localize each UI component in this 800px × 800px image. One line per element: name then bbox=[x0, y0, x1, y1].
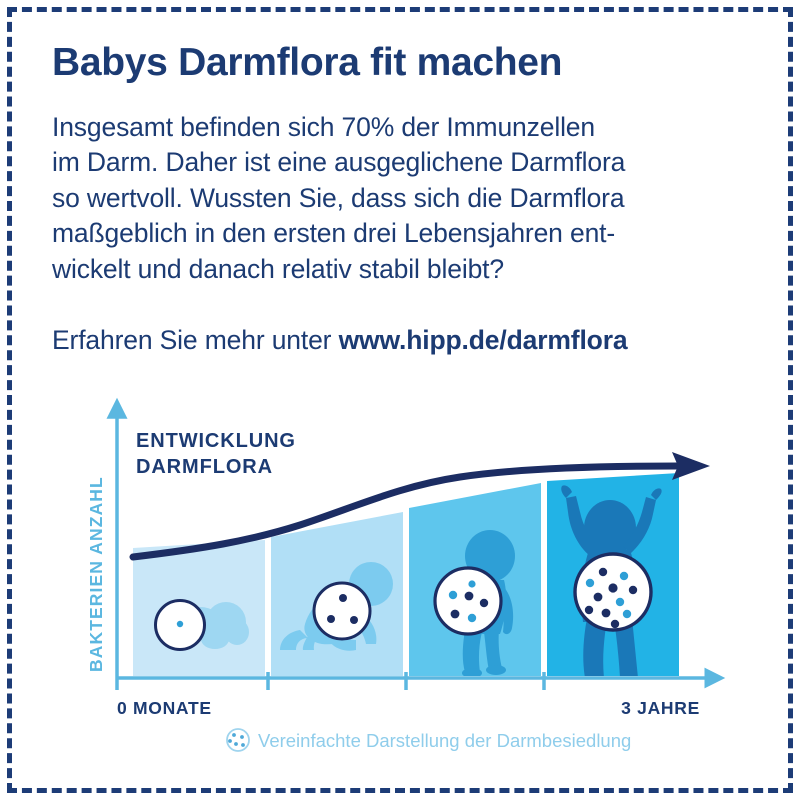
gut-flora-circle-1 bbox=[156, 601, 205, 650]
bacteria-dot bbox=[327, 615, 335, 623]
card-content: Babys Darmflora fit machen Insgesamt bef… bbox=[0, 0, 800, 800]
body-line-4: maßgeblich in den ersten drei Lebensjahr… bbox=[52, 216, 758, 251]
chart-legend: Vereinfachte Darstellung der Darmbesiedl… bbox=[227, 729, 631, 751]
bacteria-dot bbox=[480, 599, 488, 607]
website-link[interactable]: www.hipp.de/darmflora bbox=[339, 325, 628, 355]
bacteria-dot bbox=[339, 594, 347, 602]
cta-prefix: Erfahren Sie mehr unter bbox=[52, 325, 339, 355]
cta-line: Erfahren Sie mehr unter www.hipp.de/darm… bbox=[52, 325, 762, 356]
bar-segment-three-years[interactable] bbox=[547, 473, 679, 678]
bacteria-dot bbox=[629, 586, 637, 594]
chart-heading-line2: DARMFLORA bbox=[136, 456, 273, 478]
bacteria-dot bbox=[468, 614, 476, 622]
bacteria-dot bbox=[599, 568, 607, 576]
body-line-1: Insgesamt befinden sich 70% der Immunzel… bbox=[52, 110, 758, 145]
bacteria-dot bbox=[602, 609, 611, 618]
gut-flora-circle-2 bbox=[314, 583, 370, 639]
gut-flora-circle-icon bbox=[227, 729, 249, 751]
bacteria-dot bbox=[451, 610, 460, 619]
bacteria-dot bbox=[594, 593, 603, 602]
bacteria-dot bbox=[608, 583, 617, 592]
bacteria-dot bbox=[449, 591, 457, 599]
bar-segment-crawling[interactable] bbox=[271, 512, 403, 676]
y-axis: BAKTERIEN ANZAHL bbox=[86, 417, 117, 690]
bacteria-dot bbox=[611, 620, 619, 628]
chart-area: BAKTERIEN ANZAHL ENTWICKLUNG DARMFLORA bbox=[0, 392, 800, 800]
bacteria-dot bbox=[177, 621, 183, 627]
development-chart-svg: BAKTERIEN ANZAHL ENTWICKLUNG DARMFLORA bbox=[0, 392, 800, 800]
gut-flora-circle-4 bbox=[575, 554, 651, 630]
legend-label: Vereinfachte Darstellung der Darmbesiedl… bbox=[258, 730, 631, 751]
body-line-5: wickelt und danach relativ stabil bleibt… bbox=[52, 252, 758, 287]
flora-circle-outline-2 bbox=[314, 583, 370, 639]
x-tick-label-start: 0 MONATE bbox=[117, 698, 212, 718]
flora-circle-outline-3 bbox=[435, 568, 501, 634]
infographic-card: Babys Darmflora fit machen Insgesamt bef… bbox=[0, 0, 800, 800]
gut-flora-circle-3 bbox=[435, 568, 501, 634]
bacteria-dot bbox=[585, 606, 593, 614]
body-line-2: im Darm. Daher ist eine ausgeglichene Da… bbox=[52, 145, 758, 180]
bacteria-dot bbox=[586, 579, 594, 587]
bacteria-dot bbox=[620, 572, 628, 580]
bacteria-dot bbox=[465, 592, 474, 601]
chart-heading-line1: ENTWICKLUNG bbox=[136, 430, 296, 452]
bacteria-dot bbox=[468, 580, 475, 587]
bacteria-dot bbox=[350, 616, 358, 624]
bacteria-dot bbox=[623, 610, 631, 618]
page-title: Babys Darmflora fit machen bbox=[52, 42, 752, 84]
y-axis-label: BAKTERIEN ANZAHL bbox=[86, 476, 106, 672]
bar-segment-newborn[interactable] bbox=[133, 540, 265, 676]
x-tick-label-end: 3 JAHRE bbox=[621, 698, 700, 718]
body-paragraph: Insgesamt befinden sich 70% der Immunzel… bbox=[52, 110, 758, 287]
x-axis: 0 MONATE 3 JAHRE bbox=[117, 672, 706, 718]
body-line-3: so wertvoll. Wussten Sie, dass sich die … bbox=[52, 181, 758, 216]
bar-1-figure-group bbox=[156, 601, 250, 650]
bacteria-dot bbox=[616, 598, 624, 606]
bar-segment-toddler[interactable] bbox=[409, 483, 541, 678]
chart-heading: ENTWICKLUNG DARMFLORA bbox=[136, 430, 296, 478]
